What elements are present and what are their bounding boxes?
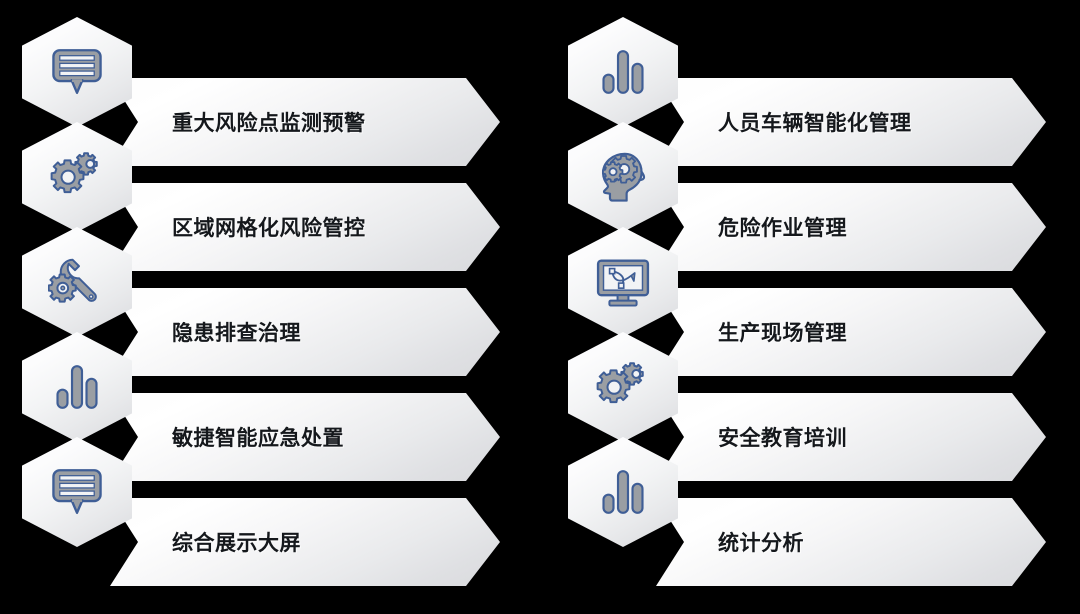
speech-bubble-list-icon <box>48 43 106 101</box>
module-hex-tile[interactable] <box>568 122 678 232</box>
module-banner[interactable]: 重大风险点监测预警 <box>110 78 500 166</box>
speech-bubble-list-icon <box>48 463 106 521</box>
module-banner[interactable]: 危险作业管理 <box>656 183 1046 271</box>
right-column: 人员车辆智能化管理 危险作业管理 生产现场管理 <box>540 0 1080 614</box>
module-label: 统计分析 <box>718 527 804 557</box>
module-hex-tile[interactable] <box>22 437 132 547</box>
left-column: 重大风险点监测预警 区域网格化风险管控 隐患排查治理 敏捷智能应急处置 <box>0 0 540 614</box>
module-label: 危险作业管理 <box>718 212 847 242</box>
module-hex-tile[interactable] <box>22 122 132 232</box>
module-label: 敏捷智能应急处置 <box>172 422 344 452</box>
module-banner[interactable]: 隐患排查治理 <box>110 288 500 376</box>
module-banner[interactable]: 统计分析 <box>656 498 1046 586</box>
module-hex-tile[interactable] <box>22 17 132 127</box>
wrench-gear-icon <box>48 253 106 311</box>
module-banner[interactable]: 区域网格化风险管控 <box>110 183 500 271</box>
bar-chart-icon <box>594 463 652 521</box>
module-banner[interactable]: 安全教育培训 <box>656 393 1046 481</box>
gears-icon <box>48 148 106 206</box>
module-banner[interactable]: 综合展示大屏 <box>110 498 500 586</box>
bar-chart-icon <box>594 43 652 101</box>
module-label: 隐患排查治理 <box>172 317 301 347</box>
module-label: 人员车辆智能化管理 <box>718 107 912 137</box>
module-label: 生产现场管理 <box>718 317 847 347</box>
module-hex-tile[interactable] <box>568 332 678 442</box>
module-hex-tile[interactable] <box>22 332 132 442</box>
module-label: 区域网格化风险管控 <box>172 212 366 242</box>
module-hex-tile[interactable] <box>568 227 678 337</box>
slide-canvas: 重大风险点监测预警 区域网格化风险管控 隐患排查治理 敏捷智能应急处置 <box>0 0 1080 614</box>
head-gears-icon <box>594 148 652 206</box>
module-hex-tile[interactable] <box>568 17 678 127</box>
module-label: 综合展示大屏 <box>172 527 301 557</box>
module-banner[interactable]: 生产现场管理 <box>656 288 1046 376</box>
monitor-path-icon <box>594 253 652 311</box>
module-hex-tile[interactable] <box>568 437 678 547</box>
bar-chart-icon <box>48 358 106 416</box>
module-banner[interactable]: 人员车辆智能化管理 <box>656 78 1046 166</box>
module-banner[interactable]: 敏捷智能应急处置 <box>110 393 500 481</box>
module-label: 安全教育培训 <box>718 422 847 452</box>
module-label: 重大风险点监测预警 <box>172 107 366 137</box>
module-hex-tile[interactable] <box>22 227 132 337</box>
gears-icon <box>594 358 652 416</box>
